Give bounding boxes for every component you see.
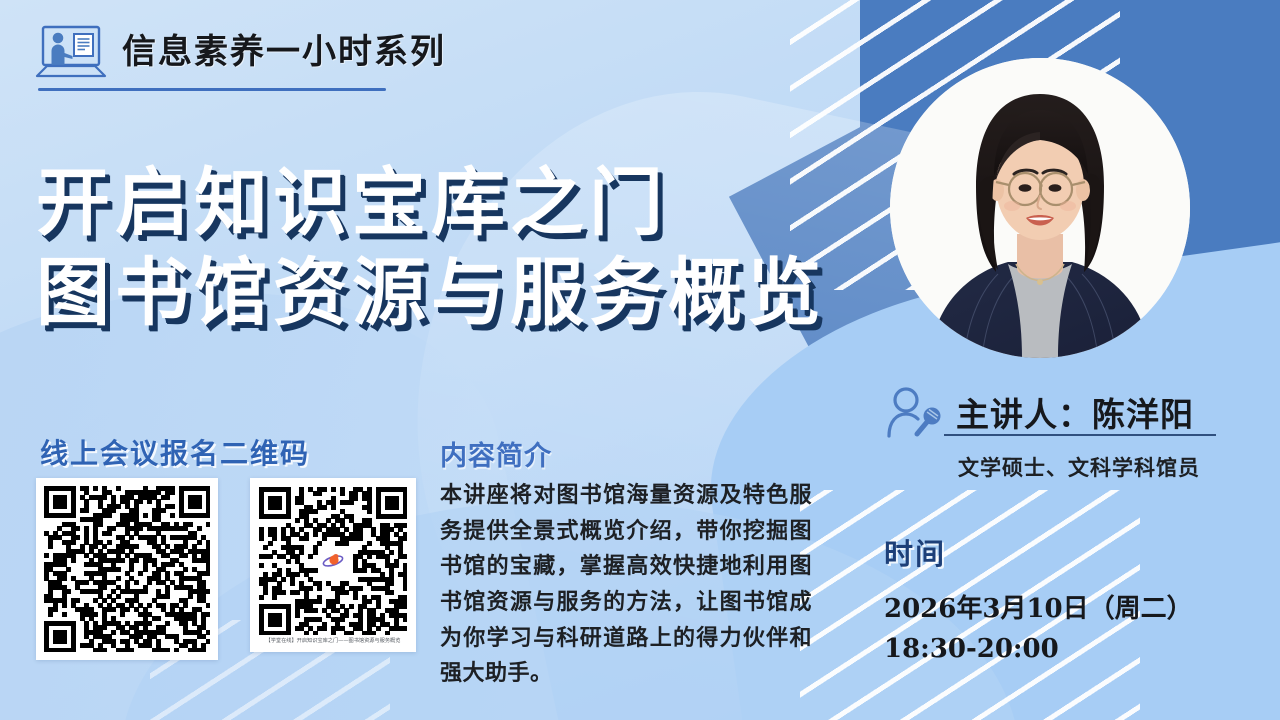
speaker-credentials: 文学硕士、文科学科馆员 xyxy=(958,452,1200,482)
speaker-portrait xyxy=(890,58,1190,358)
time-clock: 18:30-20:00 xyxy=(884,634,1059,664)
speaker-name: 主讲人：陈洋阳 xyxy=(956,388,1194,436)
qr-section-heading: 线上会议报名二维码 xyxy=(40,432,310,472)
meeting-registration-qr[interactable] xyxy=(44,486,210,652)
qr-code-list: 【学堂在线】开启知识宝库之门——图书馆资源与服务概览 xyxy=(36,478,416,660)
speaker-info: 主讲人：陈洋阳 xyxy=(886,386,1194,438)
page-title: 开启知识宝库之门 图书馆资源与服务概览 xyxy=(36,158,866,339)
title-line-1: 开启知识宝库之门 xyxy=(36,158,866,248)
summary-heading: 内容简介 xyxy=(440,434,552,473)
title-line-2: 图书馆资源与服务概览 xyxy=(36,248,866,338)
speaker-underline xyxy=(944,434,1216,436)
header-underline xyxy=(38,88,386,91)
event-poster: 信息素养一小时系列 开启知识宝库之门 图书馆资源与服务概览 xyxy=(0,0,1280,720)
series-header: 信息素养一小时系列 xyxy=(34,24,446,80)
portrait-illustration xyxy=(890,58,1190,358)
qr-caption: 【学堂在线】开启知识宝库之门——图书馆资源与服务概览 xyxy=(259,638,407,646)
qr-card-meeting[interactable] xyxy=(36,478,218,660)
speaker-microphone-icon xyxy=(886,386,944,438)
time-date: 2026年3月10日（周二） xyxy=(884,588,1193,625)
laptop-presenter-icon xyxy=(34,24,108,80)
platform-logo-icon xyxy=(320,548,346,574)
series-title: 信息素养一小时系列 xyxy=(122,35,446,69)
qr-card-course[interactable]: 【学堂在线】开启知识宝库之门——图书馆资源与服务概览 xyxy=(250,478,416,652)
time-heading: 时间 xyxy=(884,531,946,573)
summary-body: 本讲座将对图书馆海量资源及特色服务提供全景式概览介绍，带你挖掘图书馆的宝藏，掌握… xyxy=(440,478,812,692)
